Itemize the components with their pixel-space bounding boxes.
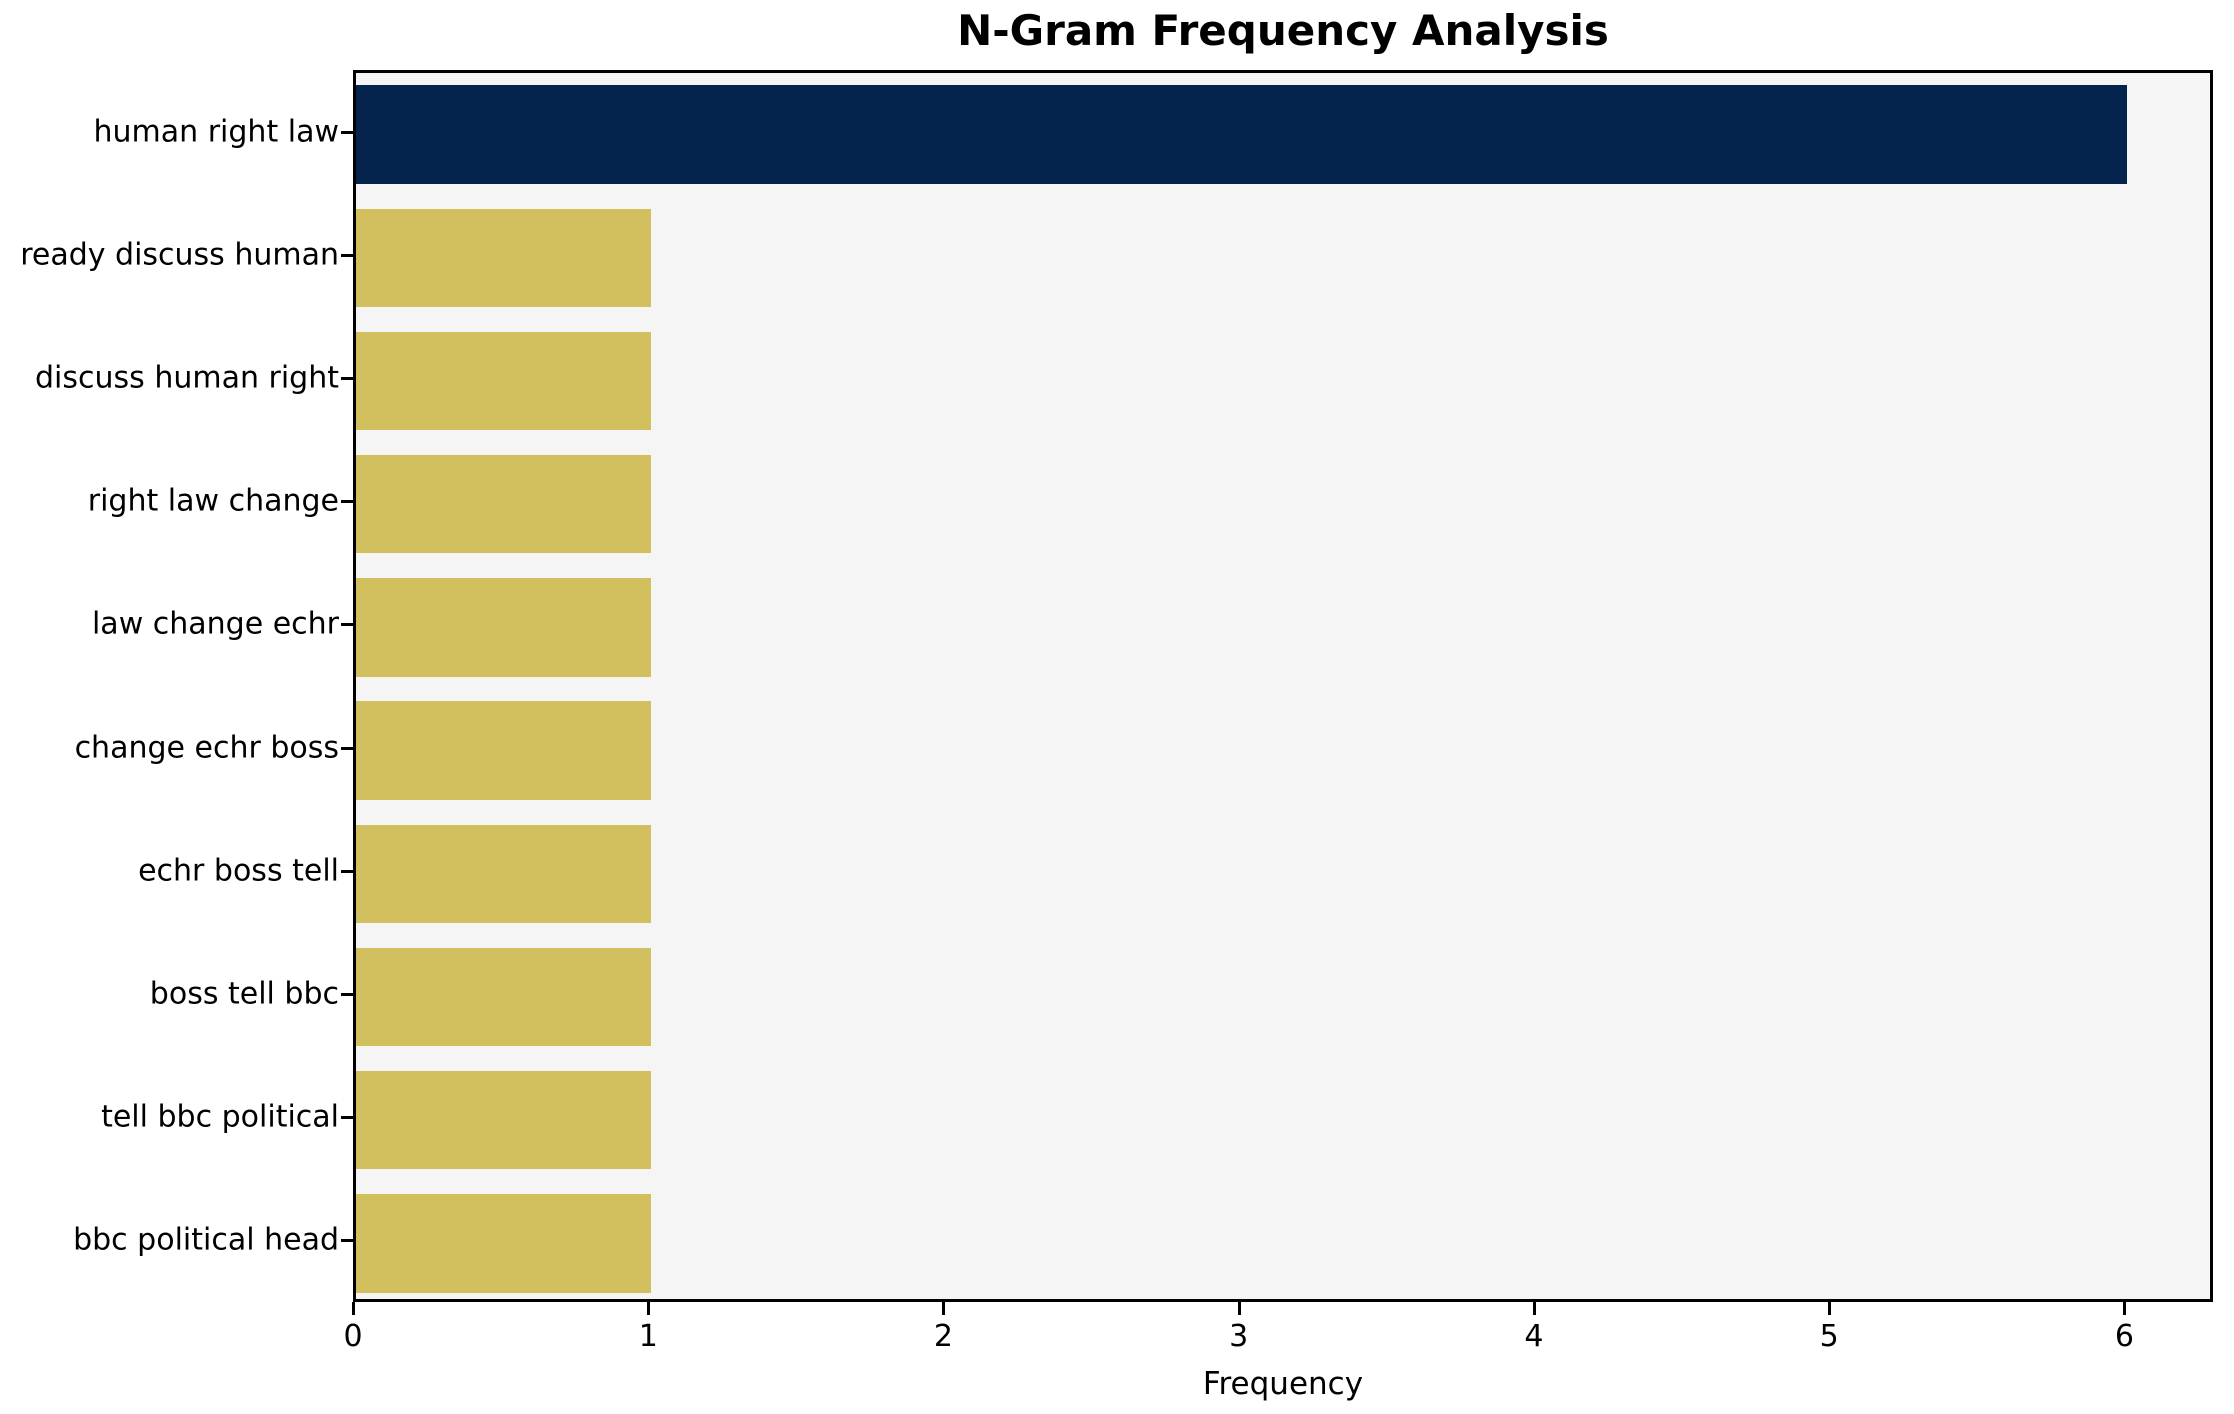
x-axis-label: Frequency: [353, 1366, 2213, 1402]
x-axis-tick-label: 6: [2115, 1319, 2134, 1354]
y-axis-tick-label: ready discuss human: [20, 237, 339, 272]
x-axis-tick-label: 5: [1820, 1319, 1839, 1354]
y-axis-tick-label: bbc political head: [73, 1223, 339, 1258]
x-axis-tick-mark: [1238, 1302, 1241, 1315]
y-axis-tick-mark: [341, 1239, 353, 1242]
y-axis-tick-label: law change echr: [92, 607, 339, 642]
bars-layer: [356, 73, 2210, 1299]
chart-figure: N-Gram Frequency Analysis human right la…: [0, 0, 2234, 1414]
bar[interactable]: [356, 578, 651, 677]
plot-area: [353, 70, 2213, 1302]
bar[interactable]: [356, 701, 651, 800]
x-axis: Frequency 0123456: [353, 1302, 2213, 1414]
bar[interactable]: [356, 209, 651, 308]
x-axis-tick-label: 1: [639, 1319, 658, 1354]
x-axis-tick-mark: [352, 1302, 355, 1315]
x-axis-tick-mark: [942, 1302, 945, 1315]
y-axis-tick-label: discuss human right: [35, 361, 339, 396]
bar[interactable]: [356, 948, 651, 1047]
y-axis-tick-label: boss tell bbc: [150, 977, 339, 1012]
y-axis-tick-mark: [341, 131, 353, 134]
y-axis-tick-label-group: human right lawready discuss humandiscus…: [0, 70, 339, 1302]
x-axis-tick-label: 2: [934, 1319, 953, 1354]
y-axis-tick-mark: [341, 993, 353, 996]
y-axis-tick-mark: [341, 1116, 353, 1119]
y-axis-tick-mark: [341, 623, 353, 626]
x-axis-tick-label: 0: [343, 1319, 362, 1354]
y-axis-tick-label: change echr boss: [75, 730, 339, 765]
y-axis-tick-label: tell bbc political: [101, 1100, 339, 1135]
y-axis-tick-label: right law change: [88, 484, 339, 519]
bar[interactable]: [356, 1071, 651, 1170]
x-axis-tick-label: 3: [1229, 1319, 1248, 1354]
bar[interactable]: [356, 455, 651, 554]
y-axis-tick-mark: [341, 870, 353, 873]
x-axis-tick-mark: [1828, 1302, 1831, 1315]
y-axis-tick-mark: [341, 747, 353, 750]
y-axis-tick-label: echr boss tell: [138, 853, 339, 888]
x-axis-tick-mark: [2123, 1302, 2126, 1315]
bar[interactable]: [356, 85, 2127, 184]
y-axis-tick-label: human right law: [94, 114, 339, 149]
y-axis-tick-mark: [341, 254, 353, 257]
bar[interactable]: [356, 825, 651, 924]
y-axis-tick-mark: [341, 500, 353, 503]
x-axis-tick-label: 4: [1524, 1319, 1543, 1354]
chart-title: N-Gram Frequency Analysis: [353, 2, 2213, 60]
y-axis-tick-mark: [341, 377, 353, 380]
x-axis-tick-mark: [1533, 1302, 1536, 1315]
bar[interactable]: [356, 332, 651, 431]
x-axis-tick-mark: [647, 1302, 650, 1315]
bar[interactable]: [356, 1194, 651, 1293]
